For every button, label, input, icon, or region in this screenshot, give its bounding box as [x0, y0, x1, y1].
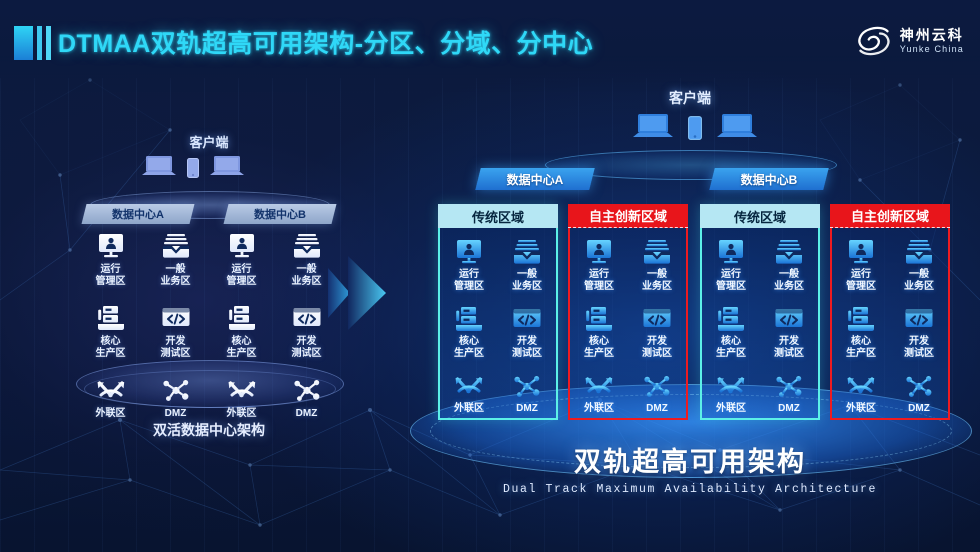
monitor-user-icon — [584, 238, 614, 266]
zone-label: 核心生产区 — [227, 336, 257, 360]
zone-cell-right-col3-3-3[interactable]: 开发测试区 — [890, 305, 948, 360]
zone-column-3[interactable]: 自主创新区域 运行管理区 一般业务区 — [830, 204, 950, 420]
right-datacenter-badge-a: 数据中心A — [475, 168, 594, 190]
crossing-arrows-icon — [227, 376, 257, 404]
zone-label: 运行管理区 — [454, 269, 484, 293]
zone-cell-right-col2-2-3[interactable]: 开发测试区 — [760, 305, 818, 360]
code-window-icon — [774, 305, 804, 333]
zone-label: 开发测试区 — [512, 336, 542, 360]
zone-cell-right-col2-2-5[interactable]: DMZ — [760, 372, 818, 415]
zone-label: 外联区 — [584, 403, 614, 415]
network-nodes-icon — [642, 372, 672, 400]
zone-cell-right-col0-0-2[interactable]: 核心生产区 — [440, 305, 498, 360]
zone-cell-right-col2-2-1[interactable]: 一般业务区 — [760, 238, 818, 293]
code-window-icon — [161, 304, 191, 332]
zone-cell-right-col2-2-4[interactable]: 外联区 — [702, 372, 760, 415]
inbox-tray-icon — [642, 238, 672, 266]
zone-cell-right-col0-0-5[interactable]: DMZ — [498, 372, 556, 415]
left-datacenter-badge-a: 数据中心A — [82, 204, 195, 224]
network-nodes-icon — [292, 376, 322, 404]
monitor-user-icon — [846, 238, 876, 266]
zone-cell-right-col0-0-4[interactable]: 外联区 — [440, 372, 498, 415]
zone-cell-right-col3-3-5[interactable]: DMZ — [890, 372, 948, 415]
code-window-icon — [512, 305, 542, 333]
zone-cell-right-col3-3-0[interactable]: 运行管理区 — [832, 238, 890, 293]
zone-column-header: 传统区域 — [700, 204, 820, 228]
slide-canvas: DTMAA双轨超高可用架构-分区、分域、分中心 神州云科 Yunke China… — [0, 0, 980, 552]
zone-label: 核心生产区 — [454, 336, 484, 360]
header-accent-bars-icon — [14, 26, 51, 60]
laptop-icon — [209, 154, 245, 178]
zone-label: 一般业务区 — [904, 269, 934, 293]
zone-cell-right-col0-0-1[interactable]: 一般业务区 — [498, 238, 556, 293]
zone-cell-right-col1-1-5[interactable]: DMZ — [628, 372, 686, 415]
zone-cell-right-col2-2-2[interactable]: 核心生产区 — [702, 305, 760, 360]
zone-label: DMZ — [296, 408, 318, 420]
zone-label: 核心生产区 — [716, 336, 746, 360]
zone-label: 外联区 — [454, 403, 484, 415]
zone-label: DMZ — [908, 403, 930, 415]
network-nodes-icon — [512, 372, 542, 400]
zone-cell-left-0-0[interactable]: 运行管理区 — [78, 232, 143, 288]
zone-label: DMZ — [516, 403, 538, 415]
zone-label: 开发测试区 — [774, 336, 804, 360]
zone-cell-left-0-4[interactable]: 外联区 — [78, 376, 143, 420]
monitor-user-icon — [454, 238, 484, 266]
zone-label: DMZ — [646, 403, 668, 415]
left-datacenter-badges: 数据中心A 数据中心B — [84, 204, 334, 224]
zone-cell-left-0-2[interactable]: 核心生产区 — [78, 304, 143, 360]
server-stack-icon — [584, 305, 614, 333]
zone-label: 外联区 — [716, 403, 746, 415]
inbox-tray-icon — [904, 238, 934, 266]
zone-column-header: 传统区域 — [438, 204, 558, 228]
zone-label: 开发测试区 — [292, 336, 322, 360]
zone-cell-right-col3-3-2[interactable]: 核心生产区 — [832, 305, 890, 360]
zone-cell-left-0-1[interactable]: 一般业务区 — [143, 232, 208, 288]
right-client-devices — [632, 112, 758, 140]
zone-label: 外联区 — [96, 408, 126, 420]
server-stack-icon — [454, 305, 484, 333]
zone-column-1[interactable]: 自主创新区域 运行管理区 一般业务区 — [568, 204, 688, 420]
zone-cell-right-col1-1-3[interactable]: 开发测试区 — [628, 305, 686, 360]
zone-column-0[interactable]: 传统区域 运行管理区 一般业务区 — [438, 204, 558, 420]
zone-cell-right-col1-1-0[interactable]: 运行管理区 — [570, 238, 628, 293]
zone-column-header: 自主创新区域 — [568, 204, 688, 228]
server-stack-icon — [846, 305, 876, 333]
zone-cell-right-col3-3-1[interactable]: 一般业务区 — [890, 238, 948, 293]
right-diagram-footer: 双轨超高可用架构 Dual Track Maximum Availability… — [400, 440, 980, 496]
laptop-icon — [141, 154, 177, 178]
right-client-label: 客户端 — [560, 88, 820, 108]
right-datacenter-badge-b: 数据中心B — [709, 168, 828, 190]
left-architecture-diagram: 客户端 数据中心A 数据中心B — [78, 132, 340, 462]
inbox-tray-icon — [774, 238, 804, 266]
zone-label: 一般业务区 — [512, 269, 542, 293]
crossing-arrows-icon — [846, 372, 876, 400]
page-title: DTMAA双轨超高可用架构-分区、分域、分中心 — [58, 24, 593, 60]
brand-logo: 神州云科 Yunke China — [856, 24, 964, 58]
left-datacenter-badge-b: 数据中心B — [224, 204, 337, 224]
zone-column-header: 自主创新区域 — [830, 204, 950, 228]
double-chevron-right-icon — [326, 254, 388, 332]
left-datacenter-columns: 运行管理区 一般业务区 核心生 — [78, 232, 340, 436]
zone-cell-right-col1-1-4[interactable]: 外联区 — [570, 372, 628, 415]
zone-label: 一般业务区 — [161, 264, 191, 288]
server-stack-icon — [716, 305, 746, 333]
zone-label: 外联区 — [846, 403, 876, 415]
zone-cell-right-col3-3-4[interactable]: 外联区 — [832, 372, 890, 415]
code-window-icon — [904, 305, 934, 333]
logo-name-en: Yunke China — [900, 45, 964, 54]
zone-column-body: 运行管理区 一般业务区 核心生 — [568, 228, 688, 420]
footer-title-en: Dual Track Maximum Availability Architec… — [400, 483, 980, 496]
zone-cell-left-1-4[interactable]: 外联区 — [209, 376, 274, 420]
left-datacenter-b-zones: 运行管理区 一般业务区 核心生 — [209, 232, 340, 436]
left-client-devices — [141, 154, 245, 178]
zone-label: 核心生产区 — [584, 336, 614, 360]
zone-label: 运行管理区 — [584, 269, 614, 293]
network-nodes-icon — [904, 372, 934, 400]
zone-cell-left-1-0[interactable]: 运行管理区 — [209, 232, 274, 288]
zone-cell-left-0-5[interactable]: DMZ — [143, 376, 208, 420]
crossing-arrows-icon — [716, 372, 746, 400]
zone-label: 一般业务区 — [642, 269, 672, 293]
crossing-arrows-icon — [454, 372, 484, 400]
server-stack-icon — [227, 304, 257, 332]
zone-label: DMZ — [778, 403, 800, 415]
zone-label: 开发测试区 — [161, 336, 191, 360]
monitor-user-icon — [96, 232, 126, 260]
zone-label: 运行管理区 — [96, 264, 126, 288]
zone-label: 运行管理区 — [227, 264, 257, 288]
zone-label: 核心生产区 — [96, 336, 126, 360]
slide-header: DTMAA双轨超高可用架构-分区、分域、分中心 神州云科 Yunke China — [0, 0, 980, 82]
zone-label: 运行管理区 — [846, 269, 876, 293]
phone-icon — [688, 116, 702, 140]
network-nodes-icon — [774, 372, 804, 400]
left-client-label: 客户端 — [78, 132, 340, 151]
zone-column-body: 运行管理区 一般业务区 核心生 — [700, 228, 820, 420]
inbox-tray-icon — [292, 232, 322, 260]
crossing-arrows-icon — [584, 372, 614, 400]
footer-title-cn: 双轨超高可用架构 — [400, 440, 980, 479]
zone-label: 一般业务区 — [774, 269, 804, 293]
zone-cell-right-col1-1-1[interactable]: 一般业务区 — [628, 238, 686, 293]
left-datacenter-a-zones: 运行管理区 一般业务区 核心生 — [78, 232, 209, 436]
zone-column-body: 运行管理区 一般业务区 核心生 — [830, 228, 950, 420]
crossing-arrows-icon — [96, 376, 126, 404]
zone-cell-right-col2-2-0[interactable]: 运行管理区 — [702, 238, 760, 293]
zone-cell-left-1-5[interactable]: DMZ — [274, 376, 339, 420]
zone-label: 外联区 — [227, 408, 257, 420]
inbox-tray-icon — [512, 238, 542, 266]
laptop-icon — [632, 112, 674, 140]
zone-label: 开发测试区 — [904, 336, 934, 360]
code-window-icon — [642, 305, 672, 333]
zone-label: 运行管理区 — [716, 269, 746, 293]
logo-name-cn: 神州云科 — [900, 28, 964, 43]
zone-cell-right-col1-1-2[interactable]: 核心生产区 — [570, 305, 628, 360]
zone-cell-left-0-3[interactable]: 开发测试区 — [143, 304, 208, 360]
zone-cell-right-col0-0-3[interactable]: 开发测试区 — [498, 305, 556, 360]
server-stack-icon — [96, 304, 126, 332]
code-window-icon — [292, 304, 322, 332]
zone-label: 一般业务区 — [292, 264, 322, 288]
zone-label: 开发测试区 — [642, 336, 672, 360]
phone-icon — [187, 158, 199, 178]
galaxy-swirl-logo-icon — [856, 24, 892, 58]
zone-column-body: 运行管理区 一般业务区 核心生 — [438, 228, 558, 420]
zone-cell-right-col0-0-0[interactable]: 运行管理区 — [440, 238, 498, 293]
monitor-user-icon — [716, 238, 746, 266]
network-nodes-icon — [161, 376, 191, 404]
zone-label: DMZ — [165, 408, 187, 420]
laptop-icon — [716, 112, 758, 140]
zone-column-2[interactable]: 传统区域 运行管理区 一般业务区 — [700, 204, 820, 420]
zone-label: 核心生产区 — [846, 336, 876, 360]
right-architecture-diagram: 客户端 数据中心A 数据中心B — [400, 88, 980, 508]
monitor-user-icon — [227, 232, 257, 260]
left-diagram-caption: 双活数据中心架构 — [78, 420, 340, 440]
inbox-tray-icon — [161, 232, 191, 260]
zone-cell-left-1-2[interactable]: 核心生产区 — [209, 304, 274, 360]
